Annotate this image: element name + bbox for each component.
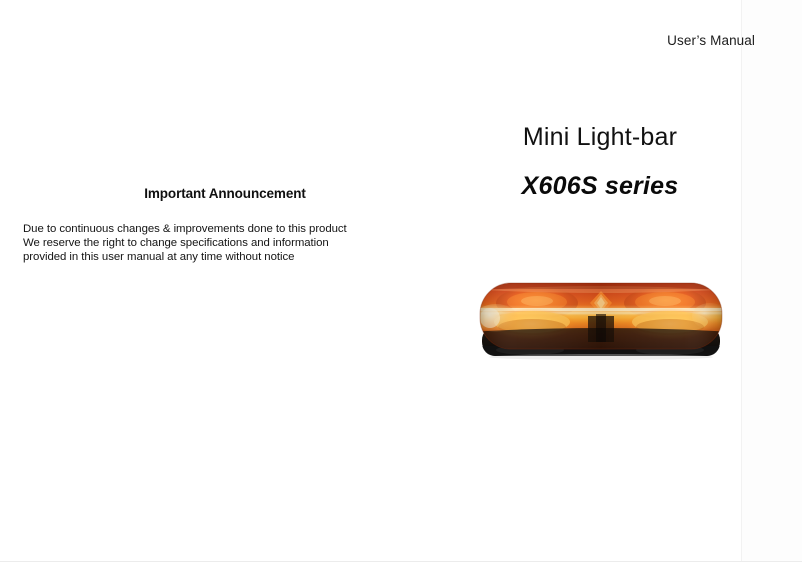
announcement-line: provided in this user manual at any time…	[23, 250, 428, 264]
important-announcement-block: Important Announcement Due to continuous…	[23, 186, 428, 265]
announcement-body: Due to continuous changes & improvements…	[23, 222, 428, 265]
page-edge-horizontal	[0, 561, 802, 562]
product-title: Mini Light-bar	[430, 124, 770, 152]
drop-shadow	[489, 354, 713, 360]
manual-cover-page: User’s Manual Mini Light-bar X606S serie…	[0, 0, 802, 567]
users-manual-label: User’s Manual	[667, 33, 755, 48]
announcement-line: We reserve the right to change specifica…	[23, 236, 428, 250]
announcement-heading: Important Announcement	[23, 186, 427, 201]
lightbar-icon	[470, 272, 732, 368]
page-edge-vertical	[741, 0, 742, 562]
product-photo-lightbar	[470, 272, 732, 368]
page-scan-tint	[742, 0, 802, 561]
announcement-line: Due to continuous changes & improvements…	[23, 222, 428, 236]
title-block: Mini Light-bar X606S series	[430, 124, 770, 200]
product-model: X606S series	[430, 173, 770, 201]
